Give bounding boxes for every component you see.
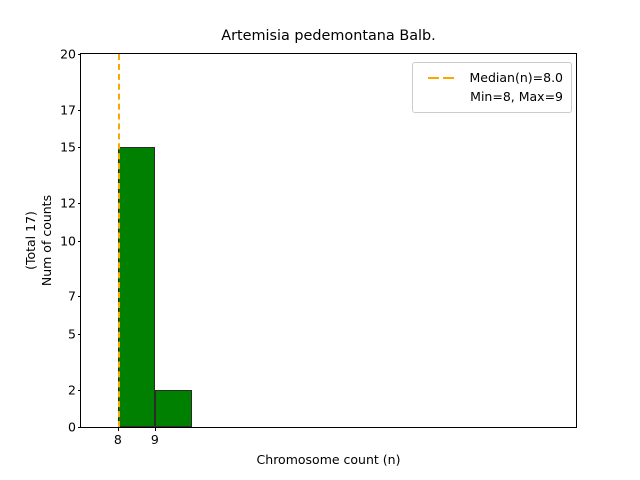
- x-tick-label: 9: [151, 432, 159, 447]
- y-tick-label: 20: [60, 47, 76, 62]
- x-tick-label: 8: [114, 432, 122, 447]
- chart-legend: Median(n)=8.0 Min=8, Max=9: [412, 62, 572, 113]
- y-tick-mark: [78, 241, 82, 242]
- chart-title: Artemisia pedemontana Balb.: [80, 28, 577, 45]
- y-tick-mark: [78, 390, 82, 391]
- x-tick-mark: [155, 427, 156, 431]
- y-tick-mark: [78, 147, 82, 148]
- dashed-line-icon: [421, 77, 461, 79]
- legend-label-median: Median(n)=8.0: [461, 70, 563, 85]
- x-tick-mark: [118, 427, 119, 431]
- y-tick-mark: [78, 427, 82, 428]
- y-tick-label: 12: [60, 196, 76, 211]
- y-tick-mark: [78, 110, 82, 111]
- y-tick-mark: [78, 203, 82, 204]
- bar: [155, 390, 192, 427]
- y-tick-label: 15: [60, 140, 76, 155]
- y-tick-label: 17: [60, 102, 76, 117]
- y-tick-mark: [78, 296, 82, 297]
- y-axis-label: (Total 17) Num of counts: [22, 53, 56, 428]
- y-tick-mark: [78, 334, 82, 335]
- y-tick-label: 5: [68, 326, 76, 341]
- legend-item-median: Median(n)=8.0: [421, 68, 563, 87]
- y-tick-label: 0: [68, 420, 76, 435]
- y-tick-mark: [78, 54, 82, 55]
- y-tick-label: 7: [68, 289, 76, 304]
- y-tick-label: 2: [68, 382, 76, 397]
- y-axis-label-line1: (Total 17): [23, 195, 39, 286]
- legend-label-minmax: Min=8, Max=9: [461, 89, 563, 104]
- y-tick-label: 10: [60, 233, 76, 248]
- y-axis-label-line2: Num of counts: [39, 195, 55, 286]
- bar: [118, 147, 155, 427]
- median-line: [118, 54, 120, 427]
- x-axis-label: Chromosome count (n): [80, 452, 577, 467]
- chart-figure: Artemisia pedemontana Balb. 025710121517…: [0, 0, 640, 480]
- legend-item-minmax: Min=8, Max=9: [421, 87, 563, 106]
